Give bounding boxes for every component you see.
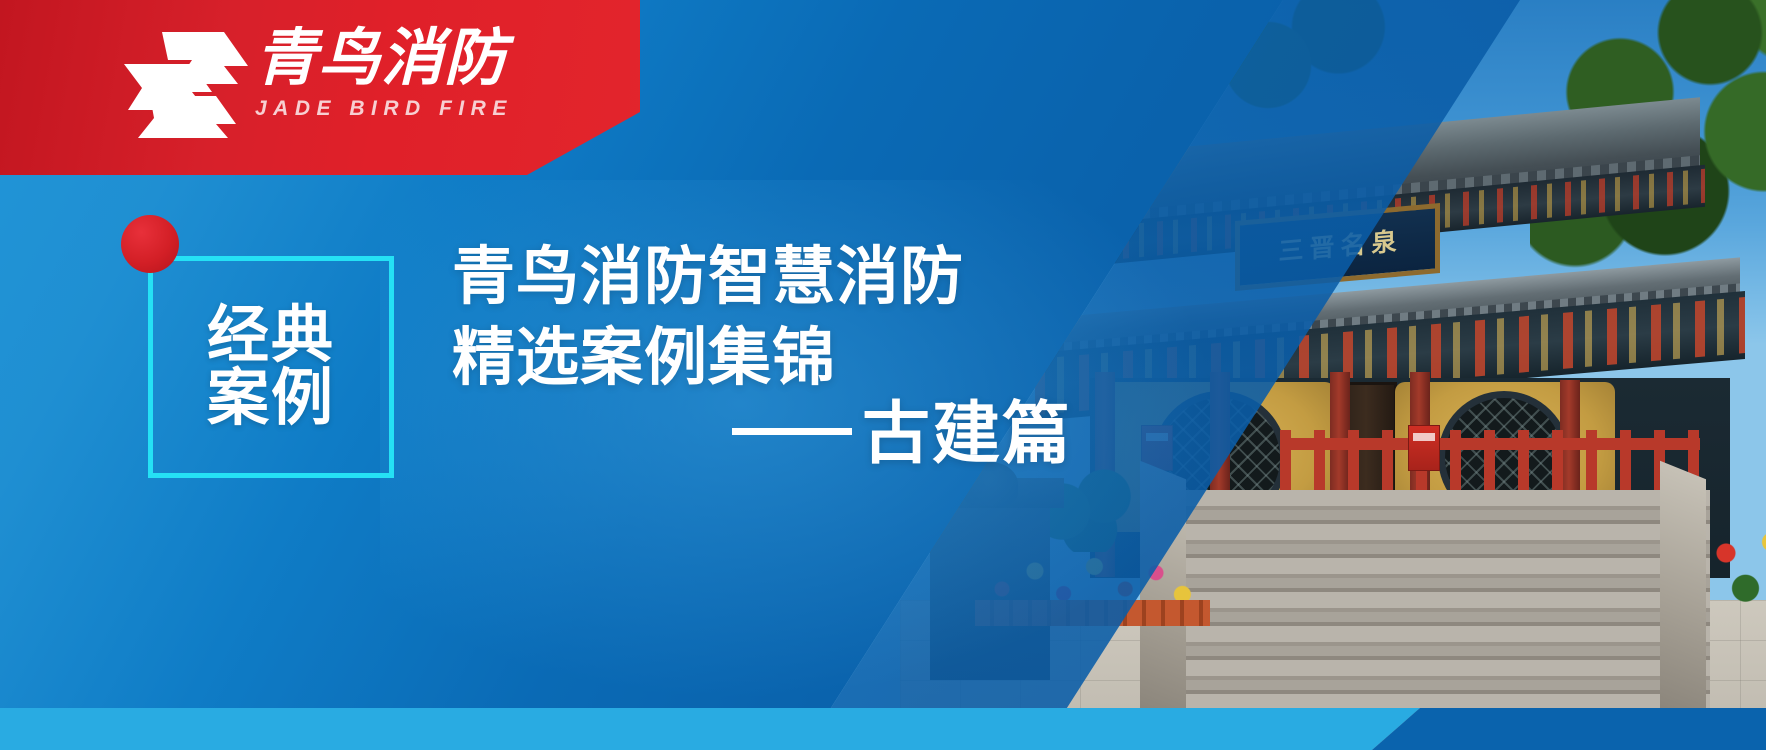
subtitle-block: 古建篇 <box>452 400 1072 468</box>
flower-bed-right <box>1700 520 1766 630</box>
classic-case-badge: 经典 案例 <box>148 256 394 478</box>
red-header-banner: 青鸟消防 JADE BIRD FIRE <box>0 0 640 175</box>
red-dot-marker-icon <box>121 215 179 273</box>
jade-bird-arrow-logo-icon <box>120 26 248 142</box>
fire-equipment-box <box>1408 425 1440 471</box>
brand-lockup: 青鸟消防 JADE BIRD FIRE <box>255 28 505 121</box>
headline-block: 青鸟消防智慧消防 精选案例集锦 <box>452 237 1052 398</box>
subtitle-dash-rule <box>732 428 852 435</box>
plaque-char-4: 泉 <box>1372 229 1397 256</box>
brand-name-en: JADE BIRD FIRE <box>255 97 505 121</box>
subtitle-text: 古建篇 <box>862 400 1072 468</box>
headline-line-2: 精选案例集锦 <box>452 318 1052 399</box>
classic-case-badge-label: 经典 案例 <box>207 304 335 430</box>
brand-name-cn: 青鸟消防 <box>255 28 505 90</box>
stone-steps <box>1150 490 1710 720</box>
promotional-banner: 三 晋 名 泉 <box>0 0 1766 750</box>
headline-line-1: 青鸟消防智慧消防 <box>452 237 1052 318</box>
